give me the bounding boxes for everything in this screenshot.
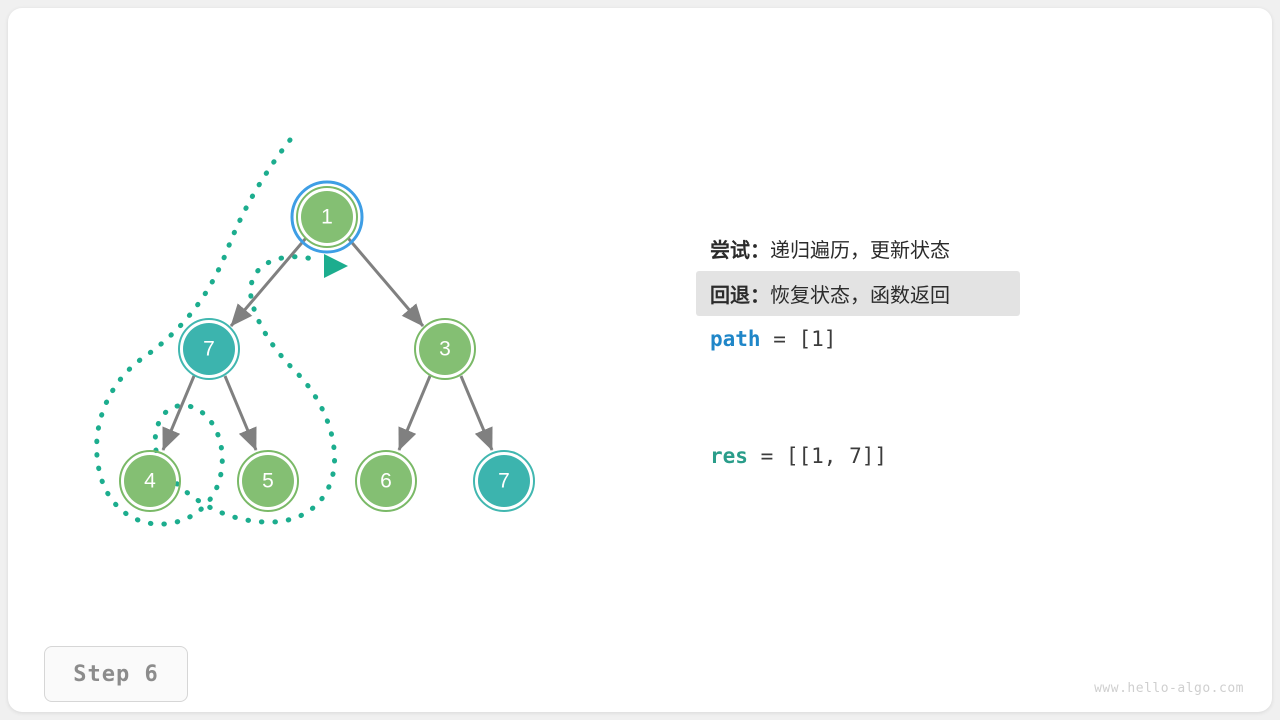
edge-1-3 [348,238,423,326]
annotation-row-backtrack: 回退： 恢复状态，函数返回 [696,271,1020,316]
annotation-row-try: 尝试： 递归遍历，更新状态 [696,226,1166,271]
tree-node-7-right[interactable]: 7 [474,451,534,511]
node-7r-label: 7 [498,470,510,493]
node-4-label: 4 [144,470,156,493]
annotation-label-backtrack: 回退： [710,279,770,308]
node-5-label: 5 [262,470,274,493]
code-spacer [696,361,1166,433]
code-value-path: = [1] [761,327,837,351]
edge-3-7r [461,376,492,450]
site-watermark: www.hello-algo.com [1094,681,1244,696]
step-badge: Step 6 [44,646,188,702]
tree-node-6[interactable]: 6 [356,451,416,511]
edge-1-7l [231,238,306,326]
node-6-label: 6 [380,470,392,493]
code-var-res: res [710,444,748,468]
tree-node-1[interactable]: 1 [292,182,362,252]
content-card: 1 7 3 4 [8,8,1272,712]
edge-3-6 [399,376,430,450]
binary-tree-diagram: 1 7 3 4 [68,128,628,548]
node-3-label: 3 [439,338,451,361]
annotation-label-try: 尝试： [710,234,770,263]
node-7l-label: 7 [203,338,215,361]
code-var-path: path [710,327,761,351]
annotation-panel: 尝试： 递归遍历，更新状态 回退： 恢复状态，函数返回 path = [1] r… [696,226,1166,478]
tree-node-4[interactable]: 4 [120,451,180,511]
annotation-text-try: 递归遍历，更新状态 [770,234,950,263]
tree-node-7-left[interactable]: 7 [179,319,239,379]
tree-node-5[interactable]: 5 [238,451,298,511]
screenshot-stage: 1 7 3 4 [0,0,1280,720]
traversal-arrowhead-icon [324,254,348,278]
annotation-text-backtrack: 恢复状态，函数返回 [770,279,950,308]
code-line-path: path = [1] [696,316,1166,361]
code-value-res: = [[1, 7]] [748,444,887,468]
tree-node-3[interactable]: 3 [415,319,475,379]
edge-7l-5 [225,376,256,450]
node-1-label: 1 [321,206,333,229]
code-line-res: res = [[1, 7]] [696,433,1166,478]
